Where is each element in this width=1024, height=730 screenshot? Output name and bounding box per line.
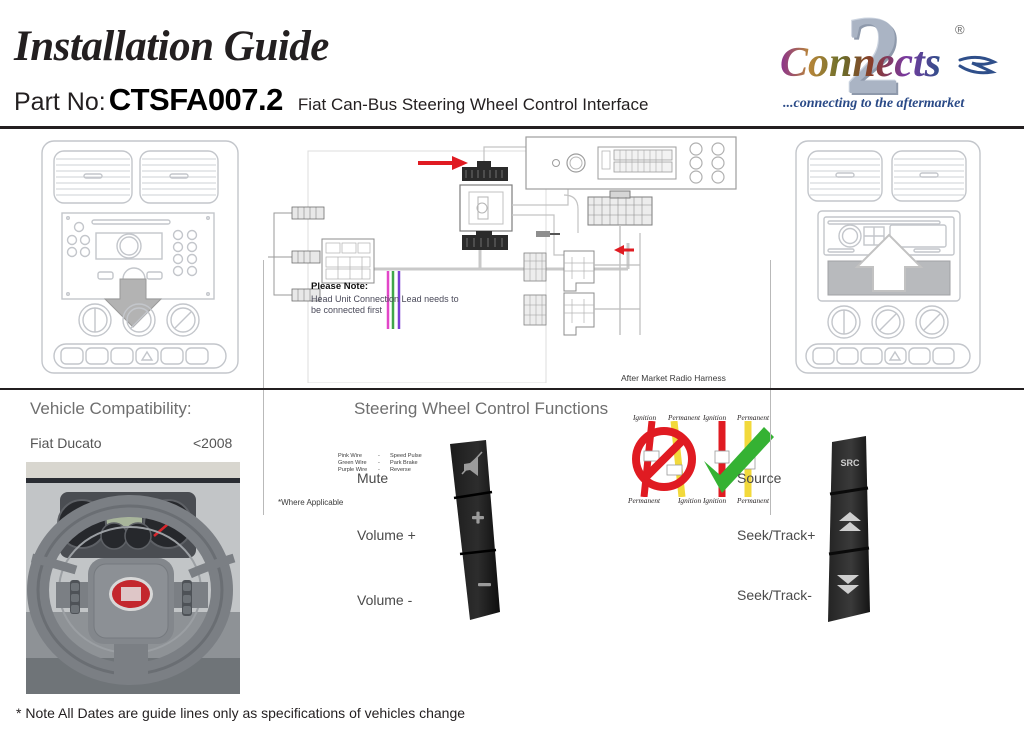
vehicle-compatibility-heading: Vehicle Compatibility: (30, 399, 192, 419)
ignition-bad-bottom-left: Permanent (628, 496, 660, 505)
ignition-bad-bottom-right: Ignition (678, 496, 701, 505)
ignition-crossed-wrong-diagram (622, 421, 706, 497)
swc-left-button-pad (424, 440, 534, 620)
interface-module (460, 161, 512, 250)
harness-arrow-icon (614, 245, 634, 255)
installation-guide-page: Installation Guide Part No: CTSFA007.2 F… (0, 0, 1024, 730)
svg-text:Connects: Connects (780, 40, 941, 86)
swc-label-seek-track-down: Seek/Track- (737, 587, 812, 603)
wire-legend-dash: - (378, 453, 390, 460)
wire-legend-name: Green Wire (338, 460, 378, 467)
wire-legend-function: Speed Pulse (390, 453, 422, 460)
logo-tagline: ...connecting to the aftermarket (783, 96, 964, 112)
footer-note: * Note All Dates are guide lines only as… (16, 705, 465, 721)
aux-jack (536, 231, 560, 237)
wire-legend-name: Pink Wire (338, 453, 378, 460)
steering-wheel-photo (26, 462, 240, 694)
registered-trademark-icon: ® (955, 22, 965, 37)
aftermarket-radio-harness-connector (588, 191, 652, 335)
wire-legend-dash: - (378, 460, 390, 467)
wire-legend-function: Park Brake (390, 460, 418, 467)
wire-legend-function: Reverse (390, 467, 411, 474)
page-header: Installation Guide Part No: CTSFA007.2 F… (0, 0, 1024, 128)
wiring-schematic (268, 135, 768, 383)
connect-first-arrow-icon (418, 156, 468, 170)
swc-label-seek-track-up: Seek/Track+ (737, 527, 815, 543)
ignition-good-bottom-right: Permanent (737, 496, 769, 505)
part-number-row: Part No: CTSFA007.2 Fiat Can-Bus Steerin… (14, 82, 648, 118)
connects2-logo: 2 Connects (775, 4, 1020, 124)
swc-functions-heading: Steering Wheel Control Functions (354, 399, 608, 419)
oem-remove-arrow-icon (105, 279, 161, 327)
oem-dashboard-illustration (28, 137, 252, 377)
part-description: Fiat Can-Bus Steering Wheel Control Inte… (298, 95, 649, 115)
minus-icon (478, 583, 491, 586)
diagram-band: Please Note: Head Unit Connection Lead n… (0, 129, 1024, 388)
please-note-title: Please Note: (311, 281, 368, 292)
part-number-value: CTSFA007.2 (109, 82, 283, 118)
please-note-line1: Head Unit Connection Lead needs to (311, 294, 459, 304)
logo-wordmark-connects: Connects (778, 36, 1003, 88)
ignition-good-bottom-left: Ignition (703, 496, 726, 505)
swc-label-source: Source (737, 470, 781, 486)
please-note-line2: be connected first (311, 305, 382, 315)
swc-label-volume-down: Volume - (357, 592, 412, 608)
swc-right-button-pad: SRC (808, 436, 908, 622)
part-number-label: Part No: (14, 88, 106, 117)
vehicle-name: Fiat Ducato (30, 435, 102, 451)
swc-label-mute: Mute (357, 470, 388, 486)
where-applicable-note: *Where Applicable (278, 498, 343, 507)
vehicle-year: <2008 (193, 435, 232, 451)
head-unit-connector-block (322, 239, 374, 283)
aftermarket-harness-label: After Market Radio Harness (621, 373, 726, 383)
aftermarket-head-unit-rear (526, 137, 736, 189)
src-label: SRC (840, 458, 860, 468)
band-bottom-divider (0, 388, 1024, 390)
swc-label-volume-up: Volume + (357, 527, 416, 543)
aftermarket-dashboard-illustration (788, 137, 988, 377)
page-title: Installation Guide (14, 22, 329, 71)
